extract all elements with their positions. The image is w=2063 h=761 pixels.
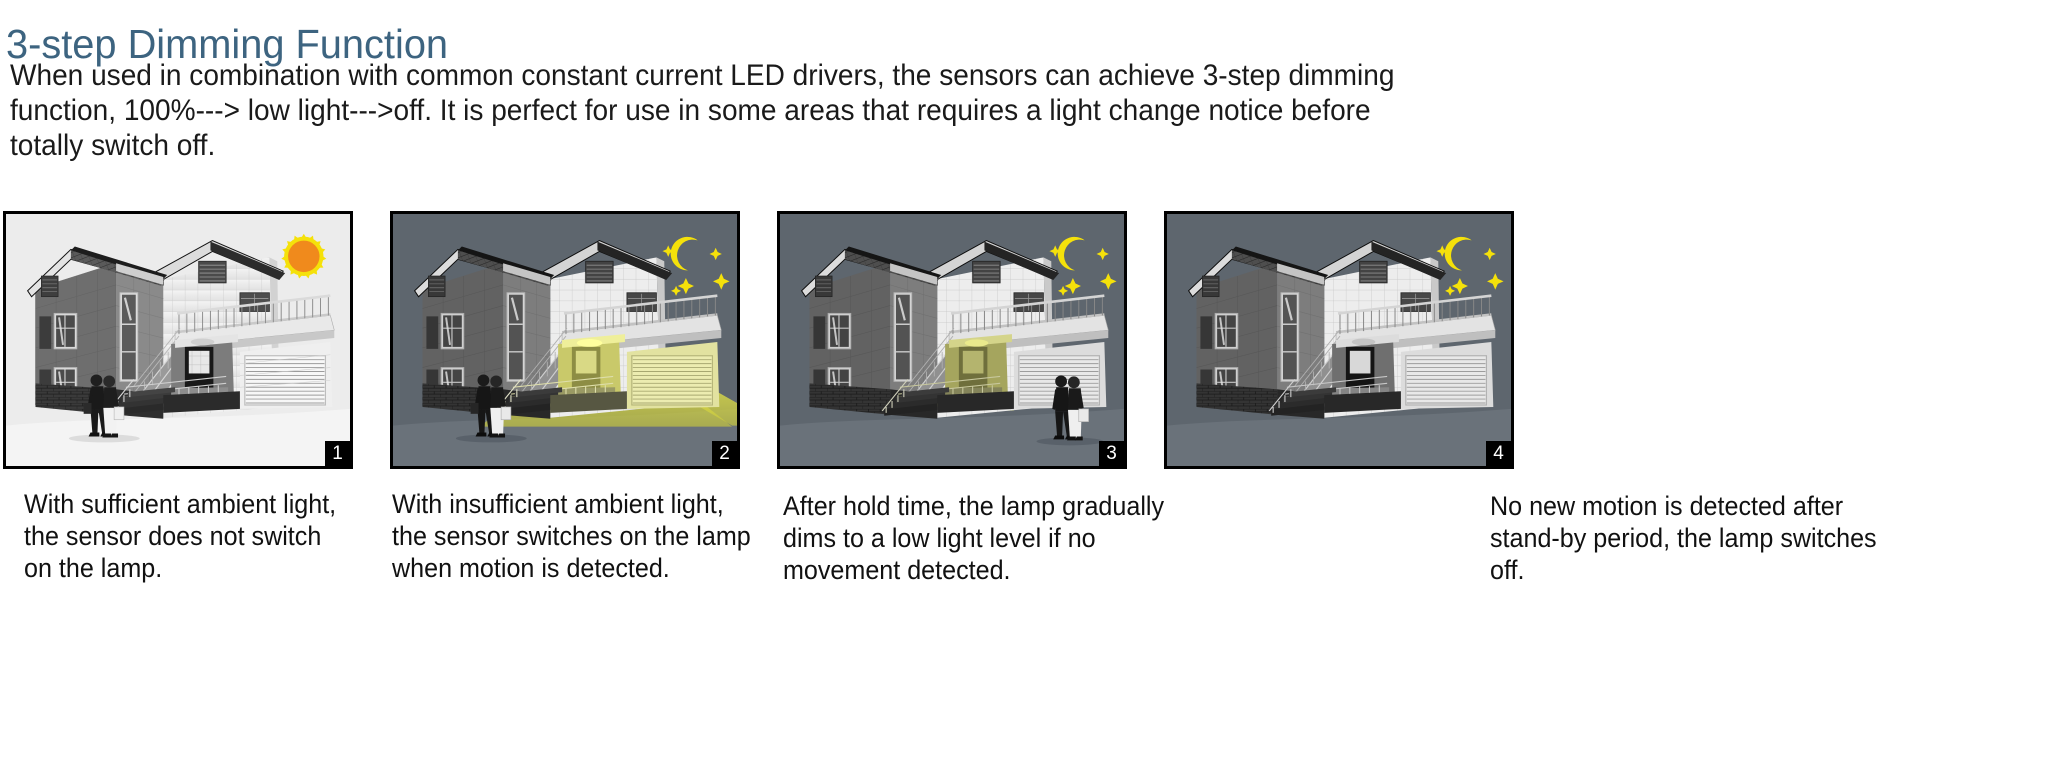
lamp-fixture-off <box>1352 339 1376 346</box>
caption-1: With sufficient ambient light, the senso… <box>24 488 336 584</box>
caption-2-line-3: when motion is detected. <box>392 552 751 584</box>
lamp-fixture <box>191 339 215 346</box>
panel-1-scene <box>6 214 350 466</box>
caption-1-line-1: With sufficient ambient light, <box>24 488 336 520</box>
lamp-fixture-on <box>577 339 603 347</box>
caption-3-line-3: movement detected. <box>783 554 1164 586</box>
panel-number-badge: 2 <box>712 441 737 466</box>
intro-line-3: totally switch off. <box>10 128 1693 163</box>
window <box>1281 293 1299 382</box>
panel-2: 2 <box>390 211 740 469</box>
panel-1: 1 <box>3 211 353 469</box>
panel-4-scene <box>1167 214 1511 466</box>
caption-4: No new motion is detected after stand-by… <box>1490 490 1877 586</box>
intro-line-1: When used in combination with common con… <box>10 58 1693 93</box>
panel-3-scene <box>780 214 1124 466</box>
panel-number-badge: 3 <box>1099 441 1124 466</box>
caption-1-line-2: the sensor does not switch <box>24 520 336 552</box>
caption-4-line-3: off. <box>1490 554 1877 586</box>
caption-3-line-2: dims to a low light level if no <box>783 522 1164 554</box>
caption-2-line-1: With insufficient ambient light, <box>392 488 751 520</box>
caption-4-line-1: No new motion is detected after <box>1490 490 1877 522</box>
window <box>39 313 76 348</box>
caption-1-line-3: on the lamp. <box>24 552 336 584</box>
panel-4: 4 <box>1164 211 1514 469</box>
window <box>894 293 912 382</box>
window <box>813 313 850 348</box>
panel-2-scene <box>393 214 737 466</box>
caption-2-line-2: the sensor switches on the lamp <box>392 520 751 552</box>
intro-line-2: function, 100%---> low light--->off. It … <box>10 93 1693 128</box>
page-root: 3-step Dimming Function When used in com… <box>0 0 2063 761</box>
intro-paragraph: When used in combination with common con… <box>10 58 1693 163</box>
caption-3-line-1: After hold time, the lamp gradually <box>783 490 1164 522</box>
panel-3: 3 <box>777 211 1127 469</box>
lamp-fixture-dim <box>965 339 989 346</box>
window <box>507 293 525 382</box>
window <box>1200 313 1237 348</box>
caption-3: After hold time, the lamp gradually dims… <box>783 490 1164 586</box>
illustration-panels: 1 <box>0 211 2063 471</box>
panel-number-badge: 4 <box>1486 441 1511 466</box>
window <box>426 313 463 348</box>
caption-4-line-2: stand-by period, the lamp switches <box>1490 522 1877 554</box>
caption-2: With insufficient ambient light, the sen… <box>392 488 751 584</box>
window <box>120 293 138 382</box>
panel-number-badge: 1 <box>325 441 350 466</box>
